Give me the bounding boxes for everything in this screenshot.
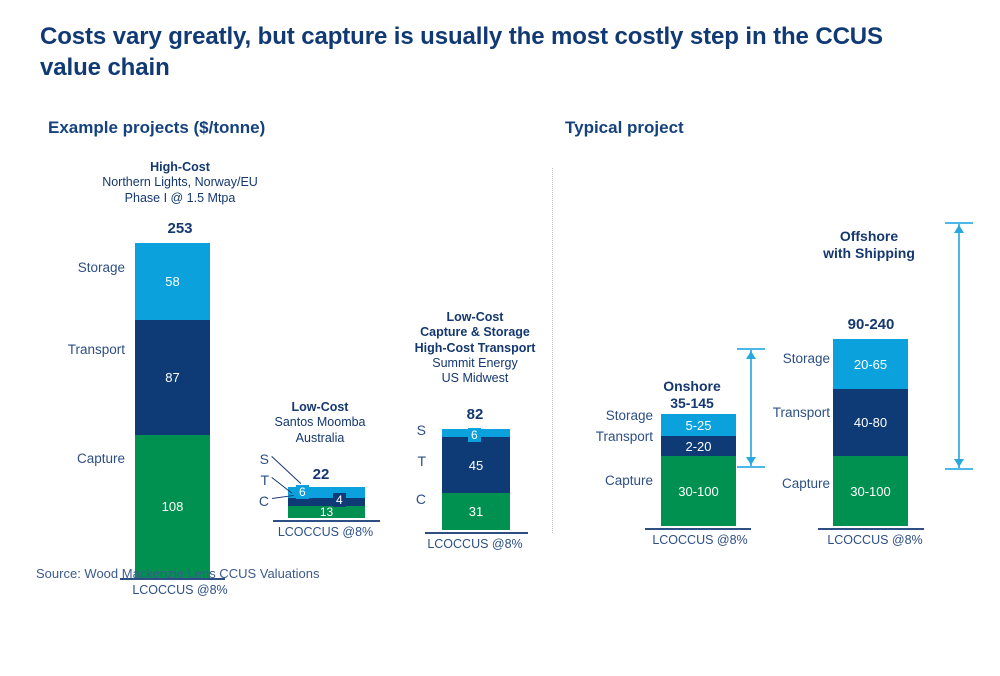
header-line-1: Onshore — [663, 378, 721, 394]
bar-axis-line — [818, 528, 924, 530]
header-line-2: with Shipping — [823, 245, 915, 261]
header-line-3: Phase I @ 1.5 Mtpa — [125, 191, 236, 205]
page-title: Costs vary greatly, but capture is usual… — [40, 22, 950, 83]
row-label-capture-bar2: C — [255, 493, 269, 509]
row-label-transport-bar2: T — [255, 472, 269, 488]
header-line-2: Northern Lights, Norway/EU — [102, 175, 258, 189]
source-note: Source: Wood Mackenzie Lens CCUS Valuati… — [36, 566, 320, 581]
row-label-transport-bar4: Transport — [576, 429, 653, 444]
stacked-bar-summit: 45 31 6 — [442, 429, 510, 530]
stacked-bar-offshore: 20-65 40-80 30-100 — [833, 339, 908, 526]
bar-axis-line — [645, 528, 751, 530]
arrow-head-up-icon — [746, 351, 756, 359]
bar-total-offshore: 90-240 — [796, 316, 946, 333]
axis-label-offshore: LCOCCUS @8% — [800, 533, 950, 547]
segment-transport-value: 2-20 — [685, 439, 711, 454]
arrow-head-down-icon — [746, 457, 756, 465]
segment-storage-value: 5-25 — [685, 418, 711, 433]
bar-total-summit: 82 — [400, 406, 550, 423]
header-line-1: Low-Cost — [292, 400, 349, 414]
segment-capture-value: 13 — [320, 505, 333, 519]
row-label-transport-bar1: Transport — [48, 342, 125, 357]
segment-transport: 2-20 — [661, 436, 736, 456]
stacked-bar-high-cost: 58 87 108 — [135, 243, 210, 676]
segment-storage-value-chip: 6 — [468, 428, 481, 442]
segment-transport: 40-80 — [833, 389, 908, 456]
row-label-storage-bar1: Storage — [60, 260, 125, 275]
axis-label-summit: LCOCCUS @8% — [400, 537, 550, 551]
row-label-capture-bar1: Capture — [58, 451, 125, 466]
segment-storage-value: 20-65 — [854, 357, 887, 372]
bar-group-offshore: Offshore with Shipping 90-240 20-65 40-8… — [800, 228, 950, 538]
segment-transport: 87 — [135, 320, 210, 435]
header-line-4: Summit Energy — [432, 356, 517, 370]
segment-transport-value: 45 — [469, 458, 483, 473]
section-header-example-projects: Example projects ($/tonne) — [48, 118, 265, 138]
bar-total-high-cost: 253 — [75, 220, 285, 237]
segment-transport-value: 40-80 — [854, 415, 887, 430]
range-indicator-offshore — [945, 222, 973, 470]
range-cap-bottom — [737, 466, 765, 468]
arrow-head-down-icon — [954, 459, 964, 467]
header-line-1: Offshore — [840, 228, 898, 244]
segment-capture-value: 30-100 — [850, 484, 890, 499]
segment-capture: 31 — [442, 493, 510, 530]
row-label-transport-bar3: T — [412, 453, 426, 469]
header-line-2: Santos Moomba — [274, 415, 365, 429]
axis-label-high-cost: LCOCCUS @8% — [75, 583, 285, 597]
row-label-storage-bar5: Storage — [765, 351, 830, 366]
axis-label-onshore: LCOCCUS @8% — [625, 533, 775, 547]
stacked-bar-onshore: 5-25 2-20 30-100 — [661, 414, 736, 526]
range-cap-bottom — [945, 468, 973, 470]
bar-group-offshore-header: Offshore with Shipping — [794, 228, 944, 263]
segment-transport-value-chip: 4 — [333, 493, 346, 507]
header-line-3: Australia — [296, 431, 345, 445]
bar-group-santos-header: Low-Cost Santos Moomba Australia — [255, 400, 385, 446]
row-label-storage-bar3: S — [412, 422, 426, 438]
row-label-storage-bar4: Storage — [588, 408, 653, 423]
header-line-1: High-Cost — [150, 160, 210, 174]
segment-storage-value: 6 — [471, 428, 478, 442]
axis-label-santos: LCOCCUS @8% — [263, 525, 388, 539]
segment-capture-value: 30-100 — [678, 484, 718, 499]
segment-capture-value: 108 — [162, 499, 184, 514]
segment-capture: 13 — [288, 506, 365, 518]
segment-storage-value: 6 — [299, 485, 306, 499]
section-header-typical-project: Typical project — [565, 118, 684, 138]
range-stem — [750, 348, 752, 468]
segment-storage-value-chip: 6 — [296, 485, 309, 499]
segment-storage: 58 — [135, 243, 210, 320]
bar-group-santos: Low-Cost Santos Moomba Australia 22 13 6… — [255, 400, 385, 540]
row-label-capture-bar4: Capture — [586, 473, 653, 488]
segment-capture: 30-100 — [833, 456, 908, 526]
header-line-5: US Midwest — [442, 371, 509, 385]
bar-axis-line — [273, 520, 380, 522]
bar-group-summit-header: Low-Cost Capture & Storage High-Cost Tra… — [400, 310, 550, 386]
segment-storage: 20-65 — [833, 339, 908, 389]
segment-storage: 5-25 — [661, 414, 736, 436]
row-label-storage-bar2: S — [255, 451, 269, 467]
bar-axis-line — [425, 532, 528, 534]
row-label-capture-bar3: C — [412, 491, 426, 507]
segment-capture: 108 — [135, 435, 210, 578]
segment-transport-value: 4 — [336, 493, 343, 507]
segment-transport: 45 — [442, 437, 510, 493]
segment-transport-value: 87 — [165, 370, 179, 385]
range-stem — [958, 222, 960, 470]
header-line-2: 35-145 — [670, 395, 714, 411]
header-line-2: Capture & Storage — [420, 325, 530, 339]
segment-capture-value: 31 — [469, 504, 483, 519]
segment-storage-value: 58 — [165, 274, 179, 289]
segment-capture: 30-100 — [661, 456, 736, 526]
bar-group-high-cost-header: High-Cost Northern Lights, Norway/EU Pha… — [75, 160, 285, 206]
header-line-3: High-Cost Transport — [415, 341, 536, 355]
arrow-head-up-icon — [954, 225, 964, 233]
row-label-transport-bar5: Transport — [753, 405, 830, 420]
panel-divider — [552, 168, 553, 533]
header-line-1: Low-Cost — [447, 310, 504, 324]
row-label-capture-bar5: Capture — [763, 476, 830, 491]
stacked-bar-santos: 13 6 4 — [288, 487, 365, 518]
